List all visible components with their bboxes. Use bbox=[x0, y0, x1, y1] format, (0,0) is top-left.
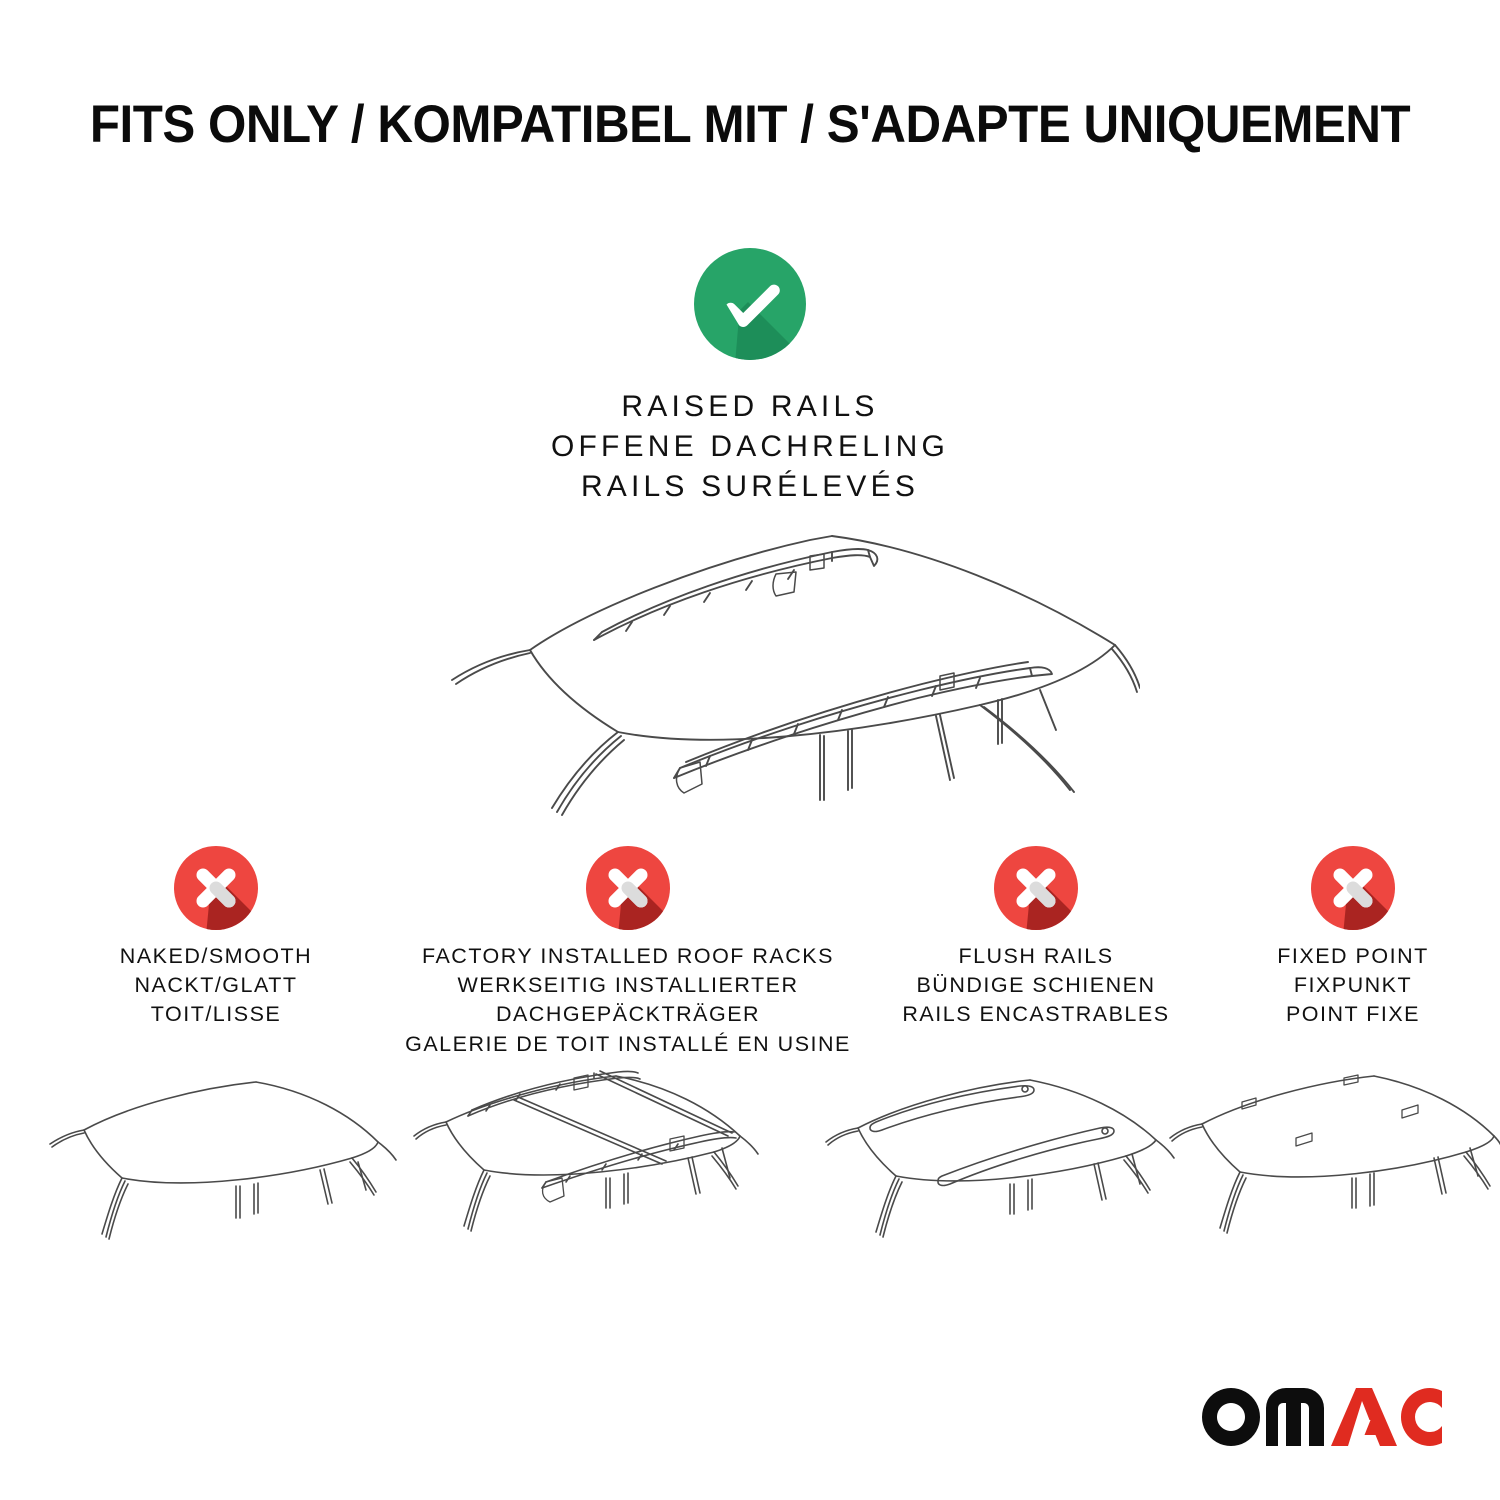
incompatible-label-fr: GALERIE DE TOIT INSTALLÉ EN USINE bbox=[400, 1030, 856, 1059]
car-roof-naked-smooth-illustration bbox=[40, 1058, 400, 1293]
incompatible-label-de: FIXPUNKT bbox=[1218, 971, 1488, 1000]
incompatible-label-group: NAKED/SMOOTH NACKT/GLATT TOIT/LISSE bbox=[40, 942, 392, 1030]
incompatible-label-de: BÜNDIGE SCHIENEN bbox=[862, 971, 1210, 1000]
incompatible-label-en: FACTORY INSTALLED ROOF RACKS bbox=[400, 942, 856, 971]
incompatible-illustration-row bbox=[0, 1058, 1500, 1293]
x-circle-icon bbox=[586, 846, 670, 930]
incompatible-item-factory-roof-racks: FACTORY INSTALLED ROOF RACKS WERKSEITIG … bbox=[400, 846, 856, 1059]
approved-section: RAISED RAILS OFFENE DACHRELING RAILS SUR… bbox=[0, 248, 1500, 507]
car-roof-flush-rails-illustration bbox=[820, 1058, 1190, 1293]
incompatible-label-de: NACKT/GLATT bbox=[40, 971, 392, 1000]
incompatible-item-fixed-point: FIXED POINT FIXPUNKT POINT FIXE bbox=[1218, 846, 1488, 1030]
approved-label-de: OFFENE DACHRELING bbox=[0, 427, 1500, 467]
incompatible-label-group: FACTORY INSTALLED ROOF RACKS WERKSEITIG … bbox=[400, 942, 856, 1059]
page-header: FITS ONLY / KOMPATIBEL MIT / S'ADAPTE UN… bbox=[0, 96, 1500, 154]
car-roof-factory-roof-racks-illustration bbox=[410, 1058, 780, 1293]
incompatible-item-naked-smooth: NAKED/SMOOTH NACKT/GLATT TOIT/LISSE bbox=[40, 846, 392, 1030]
incompatible-label-group: FLUSH RAILS BÜNDIGE SCHIENEN RAILS ENCAS… bbox=[862, 942, 1210, 1030]
fitment-infographic: FITS ONLY / KOMPATIBEL MIT / S'ADAPTE UN… bbox=[0, 0, 1500, 1500]
x-circle-icon bbox=[174, 846, 258, 930]
approved-label-group: RAISED RAILS OFFENE DACHRELING RAILS SUR… bbox=[0, 387, 1500, 507]
x-circle-icon bbox=[1311, 846, 1395, 930]
incompatible-label-fr: RAILS ENCASTRABLES bbox=[862, 1000, 1210, 1029]
car-roof-raised-rails-illustration bbox=[380, 500, 1140, 845]
incompatible-item-flush-rails: FLUSH RAILS BÜNDIGE SCHIENEN RAILS ENCAS… bbox=[862, 846, 1210, 1030]
approved-label-en: RAISED RAILS bbox=[0, 387, 1500, 427]
incompatible-label-en: NAKED/SMOOTH bbox=[40, 942, 392, 971]
incompatible-label-fr: POINT FIXE bbox=[1218, 1000, 1488, 1029]
car-roof-fixed-point-illustration bbox=[1162, 1058, 1500, 1293]
x-circle-icon bbox=[994, 846, 1078, 930]
incompatible-label-en: FLUSH RAILS bbox=[862, 942, 1210, 971]
incompatible-label-fr: TOIT/LISSE bbox=[40, 1000, 392, 1029]
incompatible-label-de-1: WERKSEITIG INSTALLIERTER bbox=[400, 971, 856, 1000]
incompatible-label-group: FIXED POINT FIXPUNKT POINT FIXE bbox=[1218, 942, 1488, 1030]
check-circle-icon bbox=[694, 248, 806, 360]
page-title: FITS ONLY / KOMPATIBEL MIT / S'ADAPTE UN… bbox=[53, 96, 1448, 154]
omac-logo bbox=[1200, 1386, 1442, 1448]
incompatible-label-de-2: DACHGEPÄCKTRÄGER bbox=[400, 1000, 856, 1029]
incompatible-label-en: FIXED POINT bbox=[1218, 942, 1488, 971]
